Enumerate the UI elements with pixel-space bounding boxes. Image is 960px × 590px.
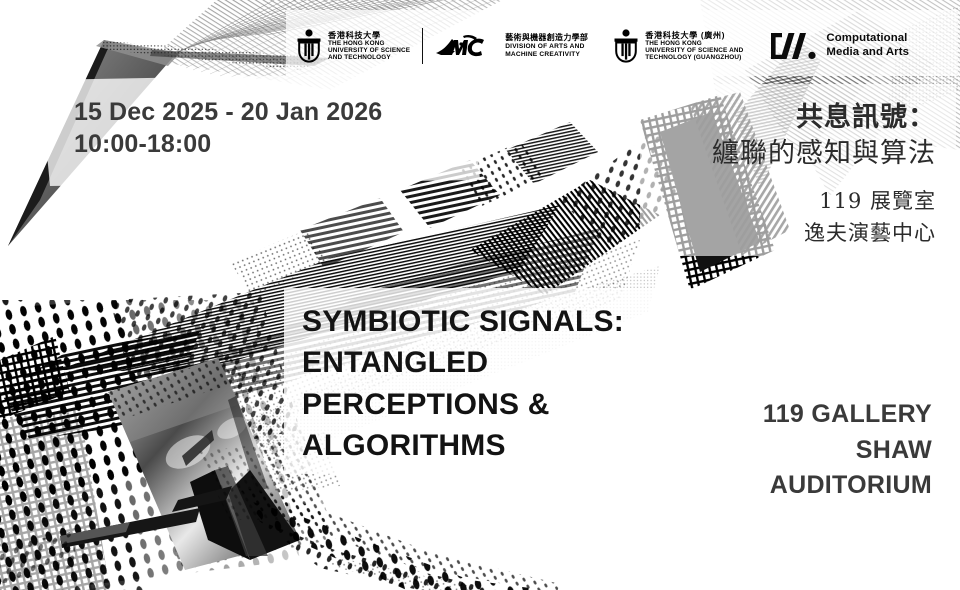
hkust-chinese-name: 香港科技大學: [328, 31, 410, 40]
amc-chinese-name: 藝術與機器創造力學部: [505, 33, 588, 43]
hkust-shield-icon: [296, 29, 322, 63]
exhibition-poster: 香港科技大學 THE HONG KONG UNIVERSITY OF SCIEN…: [0, 0, 960, 590]
english-title-line-2: ENTANGLED: [302, 342, 624, 383]
english-venue-line-1: 119 GALLERY: [763, 397, 932, 433]
cma-line-2: Media and Arts: [826, 46, 909, 60]
logo-hkust-guangzhou: 香港科技大學 (廣州) THE HONG KONG UNIVERSITY OF …: [613, 29, 743, 63]
english-title-line-4: ALGORITHMS: [302, 425, 624, 466]
hkust-gz-english-line-2: UNIVERSITY OF SCIENCE AND: [645, 47, 743, 54]
hkust-gz-shield-icon: [613, 29, 639, 63]
cma-bracket-slash-icon: [771, 33, 817, 59]
hkust-gz-english-line-1: THE HONG KONG: [645, 40, 743, 47]
hkust-lockup-text: 香港科技大學 THE HONG KONG UNIVERSITY OF SCIEN…: [328, 31, 410, 62]
hkust-english-line-1: THE HONG KONG: [328, 40, 410, 47]
amc-wordmark-icon: [435, 31, 495, 61]
chinese-title-line-1: 共息訊號：: [712, 100, 936, 136]
exhibition-dates: 15 Dec 2025 - 20 Jan 2026: [74, 96, 382, 128]
chinese-venue-line-1: 119 展覽室: [804, 186, 936, 218]
english-venue: 119 GALLERY SHAW AUDITORIUM: [763, 397, 932, 504]
chinese-venue: 119 展覽室 逸夫演藝中心: [804, 186, 936, 249]
logo-divider-1: [422, 28, 423, 64]
english-title-line-1: SYMBIOTIC SIGNALS:: [302, 301, 624, 342]
chinese-title-line-2: 纏聯的感知與算法: [712, 136, 936, 172]
english-title-line-3: PERCEPTIONS &: [302, 384, 624, 425]
logo-amc: 藝術與機器創造力學部 DIVISION OF ARTS AND MACHINE …: [435, 31, 588, 61]
amc-english-line-1: DIVISION OF ARTS AND: [505, 43, 588, 51]
hkust-english-line-2: UNIVERSITY OF SCIENCE: [328, 47, 410, 54]
chinese-venue-line-2: 逸夫演藝中心: [804, 218, 936, 250]
hkust-gz-chinese-name: 香港科技大學 (廣州): [645, 31, 743, 40]
hkust-gz-lockup-text: 香港科技大學 (廣州) THE HONG KONG UNIVERSITY OF …: [645, 31, 743, 62]
schedule-block: 15 Dec 2025 - 20 Jan 2026 10:00-18:00: [74, 96, 382, 160]
english-venue-line-3: AUDITORIUM: [763, 468, 932, 504]
logo-cma: Computational Media and Arts: [771, 32, 909, 60]
exhibition-hours: 10:00-18:00: [74, 128, 382, 160]
logo-hkust: 香港科技大學 THE HONG KONG UNIVERSITY OF SCIEN…: [296, 29, 410, 63]
amc-english-line-2: MACHINE CREATIVITY: [505, 51, 588, 59]
english-title: SYMBIOTIC SIGNALS: ENTANGLED PERCEPTIONS…: [302, 301, 624, 467]
chinese-title: 共息訊號： 纏聯的感知與算法: [712, 100, 936, 171]
partner-logo-bar: 香港科技大學 THE HONG KONG UNIVERSITY OF SCIEN…: [296, 20, 944, 72]
cma-lockup-text: Computational Media and Arts: [826, 32, 909, 60]
cma-line-1: Computational: [826, 32, 909, 46]
hkust-english-line-3: AND TECHNOLOGY: [328, 54, 410, 61]
english-venue-line-2: SHAW: [763, 433, 932, 469]
hkust-gz-english-line-3: TECHNOLOGY (GUANGZHOU): [645, 54, 743, 61]
amc-lockup-text: 藝術與機器創造力學部 DIVISION OF ARTS AND MACHINE …: [505, 33, 588, 58]
